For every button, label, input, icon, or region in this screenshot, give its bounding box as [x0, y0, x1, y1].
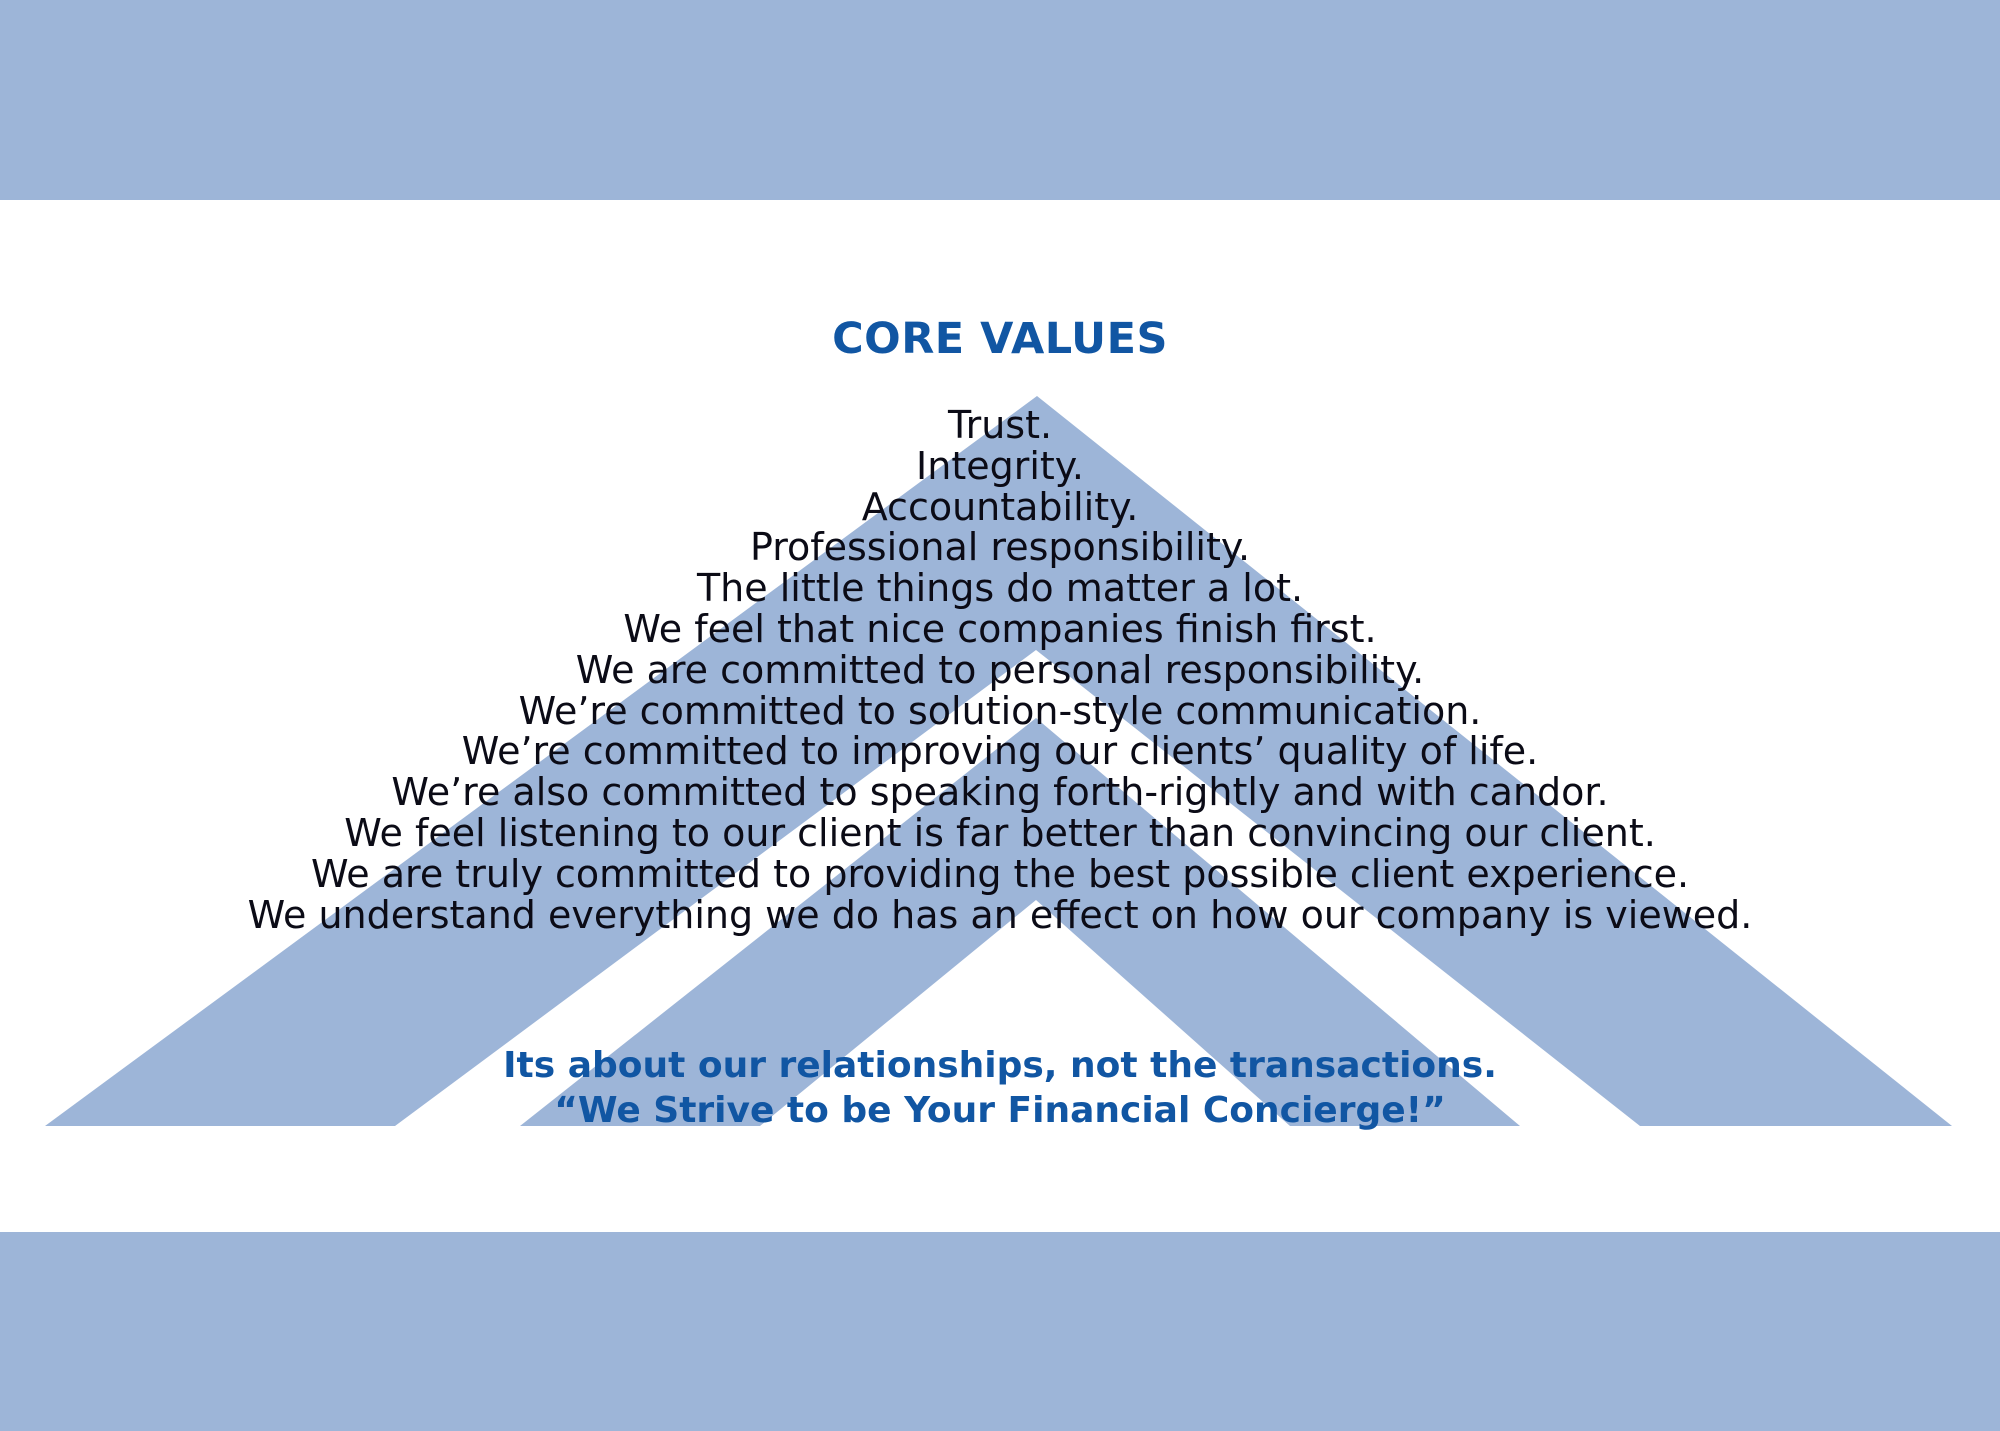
- value-line: Integrity.: [0, 446, 2000, 487]
- tagline-line-relationships: Its about our relationships, not the tra…: [0, 1043, 2000, 1088]
- value-line: We are committed to personal responsibil…: [0, 650, 2000, 691]
- core-values-list: Trust. Integrity. Accountability. Profes…: [0, 405, 2000, 935]
- slide-canvas: CORE VALUES Trust. Integrity. Accountabi…: [0, 0, 2000, 1431]
- value-line: We feel that nice companies finish first…: [0, 609, 2000, 650]
- value-line: We’re committed to solution-style commun…: [0, 691, 2000, 732]
- slide-content: CORE VALUES Trust. Integrity. Accountabi…: [0, 0, 2000, 1431]
- value-line: We understand everything we do has an ef…: [0, 895, 2000, 936]
- value-line: Professional responsibility.: [0, 527, 2000, 568]
- value-line: The little things do matter a lot.: [0, 568, 2000, 609]
- value-line: We’re also committed to speaking forth-r…: [0, 772, 2000, 813]
- tagline-line-concierge: “We Strive to be Your Financial Concierg…: [0, 1088, 2000, 1133]
- tagline-block: Its about our relationships, not the tra…: [0, 1043, 2000, 1133]
- value-line: We’re committed to improving our clients…: [0, 731, 2000, 772]
- value-line: Trust.: [0, 405, 2000, 446]
- value-line: Accountability.: [0, 487, 2000, 528]
- page-title: CORE VALUES: [0, 318, 2000, 361]
- value-line: We are truly committed to providing the …: [0, 854, 2000, 895]
- value-line: We feel listening to our client is far b…: [0, 813, 2000, 854]
